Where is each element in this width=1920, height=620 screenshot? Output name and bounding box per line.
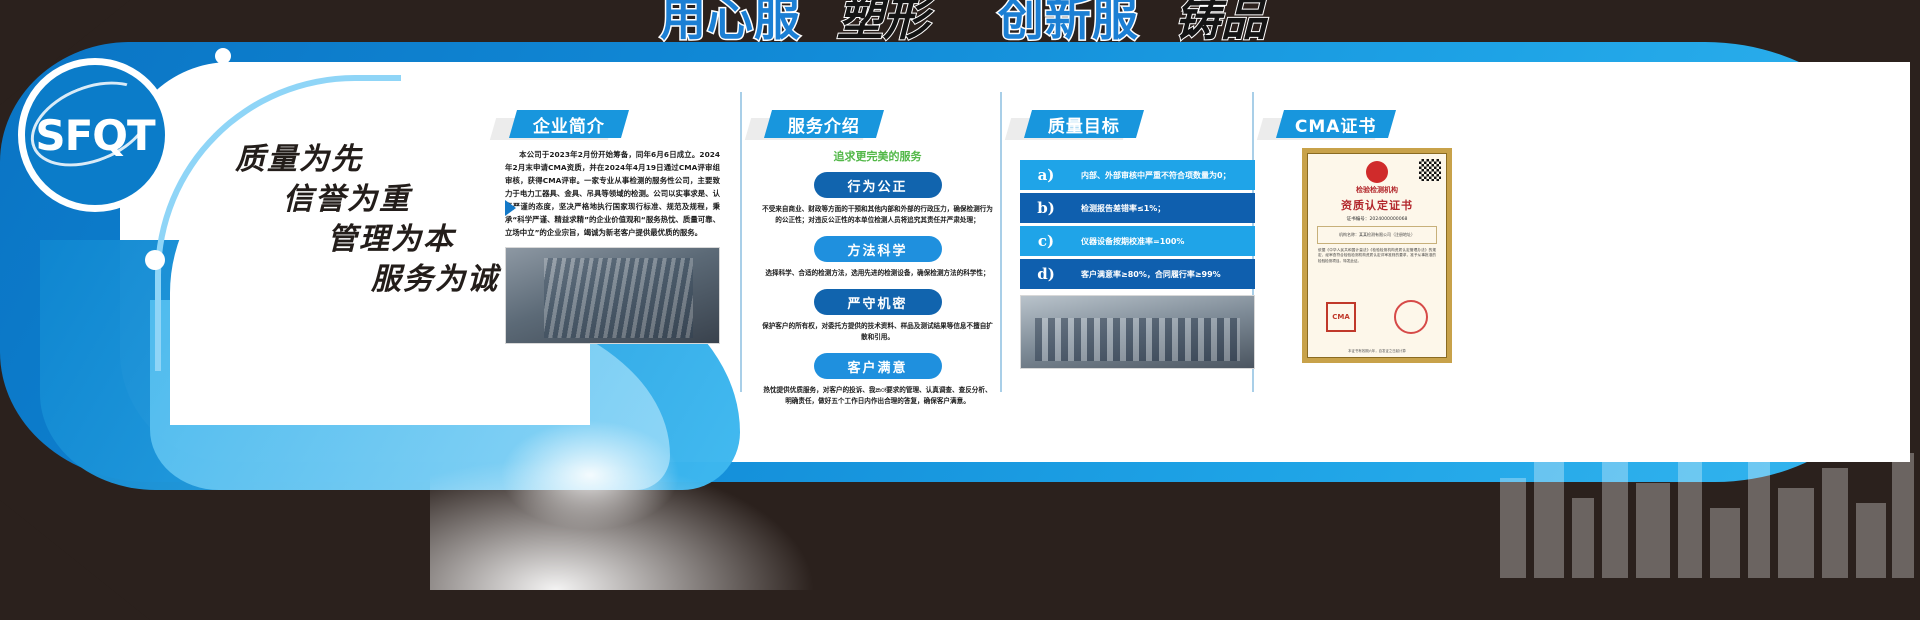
- company-building-photo: [505, 247, 720, 344]
- panel-cma-certificate: CMA证书 检验检测机构 资质认定证书 证书编号：2024000000068 机…: [1272, 110, 1482, 430]
- panel-company-profile: 企业简介 本公司于2023年2月份开始筹备，同年6月6日成立。2024年2月末申…: [505, 110, 720, 430]
- service-pill-4[interactable]: 客户满意: [814, 353, 942, 379]
- cert-info-box: 机构名称：某某检测有限公司（注册地址）: [1317, 226, 1437, 244]
- goal-row: b) 检测报告差错率≤1%；: [1020, 193, 1255, 223]
- banner-chip: 服务介绍: [764, 110, 884, 138]
- bullet-triangle-icon: [505, 200, 516, 216]
- cert-footer-text: 本证书有效期六年，自发证之日起计算: [1307, 348, 1447, 353]
- service-pill-1[interactable]: 行为公正: [814, 172, 942, 198]
- service-subtitle: 追求更完美的服务: [760, 148, 995, 164]
- goal-key-b: b): [1020, 193, 1072, 223]
- panel-title-banner-service: 服务介绍: [760, 110, 995, 138]
- service-desc-3: 保护客户的所有权，对委托方提供的技术资料、样品及测试结果等信息不擅自扩散和引用。: [762, 321, 993, 343]
- company-body-text: 本公司于2023年2月份开始筹备，同年6月6日成立。2024年2月末申请CMA资…: [505, 148, 720, 239]
- panel-title-banner-company: 企业简介: [505, 110, 720, 138]
- poster-canvas: 用心服务 塑形象 创新服务 铸品牌 SFQT 质量为先 信誉为重 管理: [0, 0, 1920, 620]
- panel-quality-goals: 质量目标 a) 内部、外部审核中严重不符合项数量为0； b) 检测报告差错率≤1…: [1020, 110, 1255, 430]
- cma-seal-icon: CMA: [1326, 302, 1356, 332]
- banner-chip: 企业简介: [509, 110, 629, 138]
- goal-value-a: 内部、外部审核中严重不符合项数量为0；: [1072, 160, 1255, 190]
- lab-photo: [1020, 295, 1255, 369]
- round-red-seal-icon: [1394, 300, 1428, 334]
- banner-chip: 质量目标: [1024, 110, 1144, 138]
- goal-value-d: 客户满意率≥80%，合同履行率≥99%: [1072, 259, 1255, 289]
- arc-dot-top: [215, 48, 231, 64]
- service-desc-2: 选择科学、合适的检测方法，选用先进的检测设备，确保检测方法的科学性；: [762, 268, 993, 279]
- cert-body-text: 依据《中华人民共和国计量法》《检验检测机构资质认定管理办法》的规定，经审查符合检…: [1318, 248, 1436, 264]
- service-desc-4: 热忱提供优质服务，对客户的投诉、我නः要求的管理、认真调查、查反分析、明确责任，…: [762, 385, 993, 407]
- light-rays: [430, 440, 850, 590]
- cert-org-line: 检验检测机构: [1311, 185, 1443, 195]
- panel-title-company: 企业简介: [533, 112, 605, 137]
- goal-row: d) 客户满意率≥80%，合同履行率≥99%: [1020, 259, 1255, 289]
- goal-row: c) 仪器设备按期校准率=100%: [1020, 226, 1255, 256]
- goal-key-a: a): [1020, 160, 1072, 190]
- service-desc-1: 不受来自商业、财政等方面的干预和其他内部和外部的行政压力，确保检测行为的公正性；…: [762, 204, 993, 226]
- service-pill-3[interactable]: 严守机密: [814, 289, 942, 315]
- panel-title-service: 服务介绍: [788, 112, 860, 137]
- goal-key-d: d): [1020, 259, 1072, 289]
- company-body-span: 本公司于2023年2月份开始筹备，同年6月6日成立。2024年2月末申请CMA资…: [505, 150, 720, 237]
- arc-dot: [145, 250, 165, 270]
- panel-title-goals: 质量目标: [1048, 112, 1120, 137]
- goal-key-c: c): [1020, 226, 1072, 256]
- cert-seal-group: CMA: [1307, 300, 1447, 334]
- panel-title-cma: CMA证书: [1295, 112, 1377, 137]
- goal-value-c: 仪器设备按期校准率=100%: [1072, 226, 1255, 256]
- dark-corner-bottom: [0, 500, 150, 620]
- panel-title-banner-cma: CMA证书: [1272, 110, 1482, 138]
- skyline-graphic: [1490, 388, 1920, 578]
- panel-service-intro: 服务介绍 追求更完美的服务 行为公正 不受来自商业、财政等方面的干预和其他内部和…: [760, 110, 995, 430]
- goal-row: a) 内部、外部审核中严重不符合项数量为0；: [1020, 160, 1255, 190]
- cert-number: 证书编号：2024000000068: [1311, 216, 1443, 222]
- panel-divider-2: [1000, 92, 1002, 392]
- national-emblem-icon: [1366, 161, 1388, 183]
- banner-chip: CMA证书: [1276, 110, 1396, 138]
- goal-value-b: 检测报告差错率≤1%；: [1072, 193, 1255, 223]
- cma-certificate-image: 检验检测机构 资质认定证书 证书编号：2024000000068 机构名称：某某…: [1302, 148, 1452, 363]
- qr-code-icon: [1419, 159, 1441, 181]
- panel-title-banner-goals: 质量目标: [1020, 110, 1255, 138]
- panel-divider-1: [740, 92, 742, 392]
- service-pill-2[interactable]: 方法科学: [814, 236, 942, 262]
- cert-name-line: 资质认定证书: [1311, 197, 1443, 213]
